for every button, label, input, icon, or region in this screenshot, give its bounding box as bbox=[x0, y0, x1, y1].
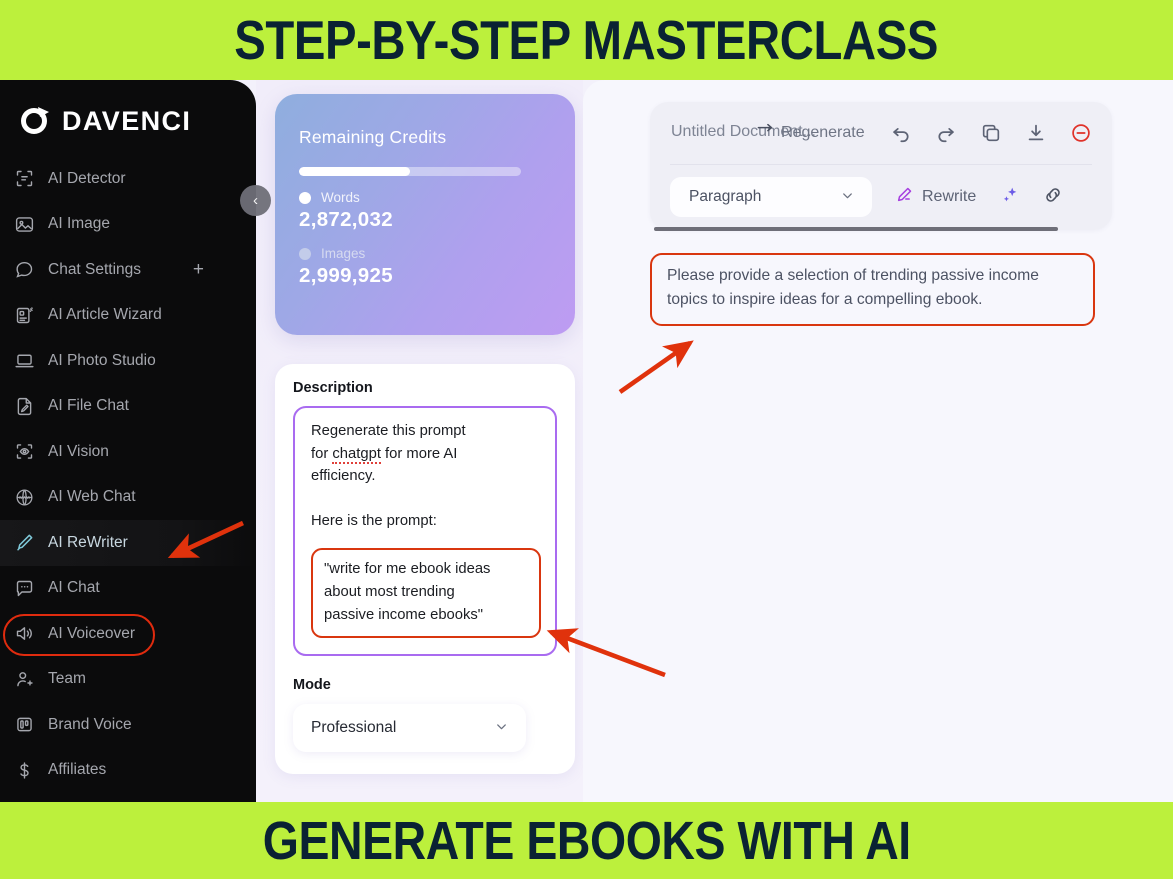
mode-label: Mode bbox=[293, 677, 557, 693]
images-value: 2,999,925 bbox=[299, 264, 551, 288]
laptop-icon bbox=[13, 350, 35, 372]
credits-title: Remaining Credits bbox=[299, 127, 551, 148]
sidebar-item-label: AI File Chat bbox=[48, 397, 129, 415]
sidebar-item-ai-web-chat[interactable]: www AI Web Chat bbox=[0, 475, 256, 521]
sidebar-item-label: AI ReWriter bbox=[48, 534, 128, 552]
sidebar-nav: AI Detector AI Image bbox=[0, 154, 256, 793]
sidebar-item-label: AI Detector bbox=[48, 170, 126, 188]
sidebar-item-label: Team bbox=[48, 670, 86, 688]
generated-prompt-box[interactable]: Please provide a selection of trending p… bbox=[650, 253, 1095, 326]
regenerate-button[interactable]: Regenerate bbox=[756, 122, 865, 143]
description-label: Description bbox=[293, 380, 557, 396]
sidebar-item-label: AI Web Chat bbox=[48, 488, 136, 506]
block-type-select[interactable]: Paragraph bbox=[670, 177, 872, 217]
quote-line-1: "write for me ebook ideas bbox=[324, 558, 528, 581]
board-icon bbox=[13, 714, 35, 736]
mode-select[interactable]: Professional bbox=[293, 704, 526, 752]
sidebar-item-chat-settings[interactable]: Chat Settings + bbox=[0, 247, 256, 293]
spellcheck-word: chatgpt bbox=[332, 446, 381, 464]
download-icon[interactable] bbox=[1025, 122, 1047, 144]
link-icon[interactable] bbox=[1042, 184, 1064, 211]
sidebar-item-label: AI Vision bbox=[48, 443, 109, 461]
remaining-credits-card: Remaining Credits Words 2,872,032 Images bbox=[275, 94, 575, 335]
editor-toolbar: Untitled Document... Regenerate bbox=[650, 102, 1112, 230]
description-line-3: efficiency. bbox=[311, 465, 541, 488]
left-panel: Remaining Credits Words 2,872,032 Images bbox=[256, 80, 583, 802]
rewrite-button[interactable]: Rewrite bbox=[894, 185, 976, 210]
editor-toolbar-bottom-row: Paragraph Rewrite bbox=[670, 165, 1092, 229]
undo-icon[interactable] bbox=[890, 122, 912, 144]
chevron-down-icon bbox=[494, 719, 509, 737]
dollar-icon bbox=[13, 759, 35, 781]
description-line-2-post: for more AI bbox=[381, 446, 457, 462]
sidebar-item-ai-voiceover[interactable]: AI Voiceover bbox=[0, 611, 256, 657]
description-line-2-pre: for bbox=[311, 446, 332, 462]
editor-action-icons bbox=[890, 122, 1092, 144]
davenci-logo-icon bbox=[18, 104, 52, 138]
redo-icon[interactable] bbox=[935, 122, 957, 144]
promo-banner-top-text: STEP-BY-STEP MASTERCLASS bbox=[235, 8, 939, 72]
sidebar-item-ai-rewriter[interactable]: AI ReWriter bbox=[0, 520, 256, 566]
mode-selected-value: Professional bbox=[311, 719, 396, 737]
image-icon bbox=[13, 213, 35, 235]
promo-banner-top: STEP-BY-STEP MASTERCLASS bbox=[0, 0, 1173, 80]
sidebar-item-ai-photo-studio[interactable]: AI Photo Studio bbox=[0, 338, 256, 384]
sidebar: DAVENCI AI Detector bbox=[0, 80, 256, 802]
delete-circle-icon[interactable] bbox=[1070, 122, 1092, 144]
regenerate-label: Regenerate bbox=[781, 124, 865, 142]
pen-icon bbox=[894, 185, 914, 210]
sidebar-item-ai-file-chat[interactable]: AI File Chat bbox=[0, 384, 256, 430]
speaker-icon bbox=[13, 623, 35, 645]
editor-toolbar-top-row: Untitled Document... Regenerate bbox=[670, 102, 1092, 165]
images-label: Images bbox=[321, 246, 365, 261]
sidebar-item-ai-vision[interactable]: AI Vision bbox=[0, 429, 256, 475]
sidebar-item-label: Affiliates bbox=[48, 761, 106, 779]
toolbar-scroll-indicator[interactable] bbox=[654, 227, 1058, 231]
description-card: Description Regenerate this prompt for c… bbox=[275, 364, 575, 774]
sidebar-item-label: AI Image bbox=[48, 215, 110, 233]
sparkle-icon[interactable] bbox=[998, 184, 1020, 211]
words-label: Words bbox=[321, 190, 360, 205]
sidebar-item-affiliates[interactable]: Affiliates bbox=[0, 748, 256, 794]
scan-text-icon bbox=[13, 168, 35, 190]
sidebar-item-ai-article-wizard[interactable]: AI Article Wizard bbox=[0, 293, 256, 339]
article-wand-icon bbox=[13, 304, 35, 326]
sidebar-item-label: AI Chat bbox=[48, 579, 100, 597]
sidebar-item-label: Brand Voice bbox=[48, 716, 132, 734]
chat-bubble-icon bbox=[13, 259, 35, 281]
prompt-line-1: Please provide a selection of trending p… bbox=[667, 264, 1079, 288]
chevron-left-icon: ‹ bbox=[253, 192, 258, 209]
sidebar-item-label: Chat Settings bbox=[48, 261, 141, 279]
prompt-line-2: topics to inspire ideas for a compelling… bbox=[667, 288, 1079, 312]
rewrite-label: Rewrite bbox=[922, 188, 976, 206]
description-line-4: Here is the prompt: bbox=[311, 510, 541, 533]
description-line-2: for chatgpt for more AI bbox=[311, 443, 541, 466]
quote-line-2: about most trending bbox=[324, 581, 528, 604]
words-dot-icon bbox=[299, 192, 311, 204]
screenshot-root: STEP-BY-STEP MASTERCLASS DAVENCI bbox=[0, 0, 1173, 879]
credits-progress-bar bbox=[299, 167, 521, 176]
description-line-1: Regenerate this prompt bbox=[311, 420, 541, 443]
chevron-down-icon bbox=[840, 188, 855, 206]
editor-panel: Untitled Document... Regenerate bbox=[583, 80, 1173, 802]
user-plus-icon bbox=[13, 668, 35, 690]
sidebar-item-team[interactable]: Team bbox=[0, 657, 256, 703]
prompt-quote-highlight: "write for me ebook ideas about most tre… bbox=[311, 548, 541, 638]
sidebar-item-ai-image[interactable]: AI Image bbox=[0, 202, 256, 248]
copy-icon[interactable] bbox=[980, 122, 1002, 144]
globe-www-icon: www bbox=[13, 486, 35, 508]
words-value: 2,872,032 bbox=[299, 208, 551, 232]
credits-progress-fill bbox=[299, 167, 410, 176]
sidebar-item-label: AI Article Wizard bbox=[48, 306, 162, 324]
promo-banner-bottom-text: GENERATE EBOOKS WITH AI bbox=[262, 810, 910, 872]
sidebar-collapse-button[interactable]: ‹ bbox=[240, 185, 271, 216]
pen-rewrite-icon bbox=[13, 532, 35, 554]
chat-dots-icon bbox=[13, 577, 35, 599]
brand-name: DAVENCI bbox=[62, 106, 191, 137]
sidebar-item-ai-chat[interactable]: AI Chat bbox=[0, 566, 256, 612]
credits-metric-words: Words 2,872,032 bbox=[299, 190, 551, 232]
sidebar-item-label: AI Voiceover bbox=[48, 625, 135, 643]
description-textarea[interactable]: Regenerate this prompt for chatgpt for m… bbox=[293, 406, 557, 656]
regenerate-arrow-icon bbox=[756, 122, 775, 143]
sidebar-item-label: AI Photo Studio bbox=[48, 352, 156, 370]
images-dot-icon bbox=[299, 248, 311, 260]
sidebar-item-ai-detector[interactable]: AI Detector bbox=[0, 156, 256, 202]
description-blank-line bbox=[311, 488, 541, 510]
quote-line-3: passive income ebooks" bbox=[324, 604, 528, 627]
app-window: DAVENCI AI Detector bbox=[0, 80, 1173, 802]
svg-text:www: www bbox=[18, 495, 30, 501]
brand-logo[interactable]: DAVENCI bbox=[0, 86, 256, 154]
block-type-value: Paragraph bbox=[689, 188, 761, 206]
add-chat-button[interactable]: + bbox=[193, 259, 204, 281]
sidebar-item-brand-voice[interactable]: Brand Voice bbox=[0, 702, 256, 748]
file-pencil-icon bbox=[13, 395, 35, 417]
eye-scan-icon bbox=[13, 441, 35, 463]
credits-metric-images: Images 2,999,925 bbox=[299, 246, 551, 288]
promo-banner-bottom: GENERATE EBOOKS WITH AI bbox=[0, 802, 1173, 879]
